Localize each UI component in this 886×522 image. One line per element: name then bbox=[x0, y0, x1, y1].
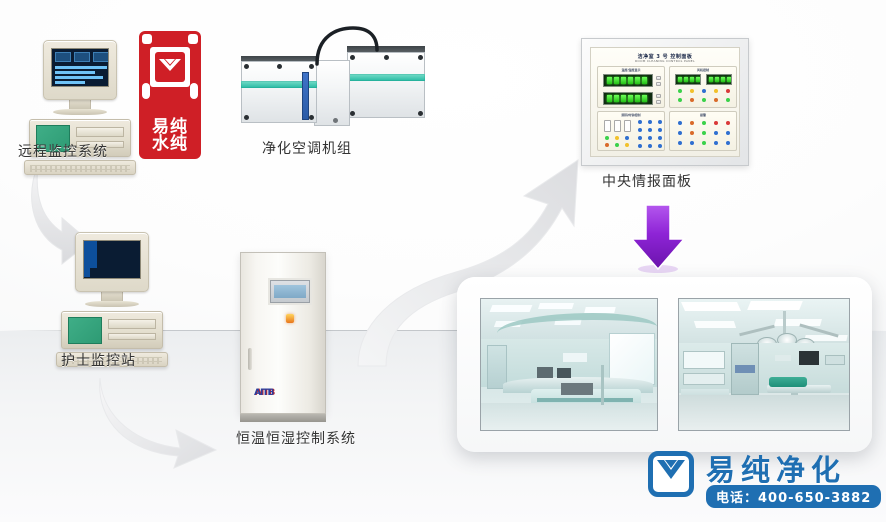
brand-name: 易纯净化 bbox=[706, 447, 846, 489]
photo-panel-container bbox=[457, 277, 872, 452]
panel-quadrant-fan-control[interactable]: 风机控制 bbox=[669, 66, 737, 108]
tower-drive-bay-nurse bbox=[108, 319, 156, 329]
ahu-blue-access-panel bbox=[302, 72, 309, 120]
quadrant-4-label: 报警 bbox=[670, 113, 736, 117]
panel-quadrant-temp-humidity[interactable]: 温度/湿度显示 bbox=[597, 66, 665, 108]
node-temperature-humidity-cabinet[interactable]: AITB bbox=[240, 252, 326, 414]
cabinet-indicator-lamp bbox=[286, 314, 294, 323]
cabinet-plinth bbox=[240, 414, 326, 422]
monitor-nurse bbox=[75, 232, 149, 292]
brand-chevron-icon bbox=[657, 460, 685, 482]
node-central-information-panel[interactable]: 洁净室 3 号 控制面板 ROOM CLEANING CONTROL PANEL… bbox=[581, 38, 749, 166]
quadrant-1-label: 温度/湿度显示 bbox=[598, 68, 664, 72]
photo-hospital-nurse-station[interactable] bbox=[480, 298, 658, 431]
lcd-humidity bbox=[603, 92, 653, 105]
diagram-canvas: 远程监控系统 易纯水纯 bbox=[0, 0, 886, 522]
tower-drive-bay-2-nurse bbox=[108, 333, 156, 340]
ahu-middle-section bbox=[314, 60, 350, 126]
label-remote-monitoring: 远程监控系统 bbox=[18, 141, 108, 161]
monitor-stand-neck bbox=[69, 100, 91, 109]
panel-subtitle: ROOM CLEANING CONTROL PANEL bbox=[591, 59, 739, 63]
cabinet-hmi-display[interactable] bbox=[268, 278, 312, 305]
monitor-stand-base bbox=[53, 109, 107, 115]
monitor-screen-nurse bbox=[83, 240, 141, 279]
company-seal-stamp: 易纯水纯 bbox=[139, 31, 201, 159]
monitor-stand-neck-nurse bbox=[101, 292, 123, 301]
computer-tower-nurse bbox=[61, 311, 163, 349]
quadrant-2-label: 风机控制 bbox=[670, 68, 736, 72]
panel-face: 洁净室 3 号 控制面板 ROOM CLEANING CONTROL PANEL… bbox=[590, 47, 740, 157]
panel-quadrant-alarm[interactable]: 报警 bbox=[669, 111, 737, 151]
seal-chevron-icon bbox=[159, 59, 181, 73]
monitor-screen-remote bbox=[51, 48, 109, 87]
cabinet-brand-mark: AITB bbox=[254, 388, 273, 398]
node-air-handling-unit[interactable] bbox=[237, 30, 427, 130]
cabinet-door-handle[interactable] bbox=[248, 348, 252, 370]
ahu-right-section bbox=[347, 52, 425, 118]
panel-quadrant-lighting-clock[interactable]: 照明/时钟控制 bbox=[597, 111, 665, 151]
quadrant-3-label: 照明/时钟控制 bbox=[598, 113, 664, 117]
lcd-temperature bbox=[603, 74, 653, 87]
arrow-central-panel-to-photos bbox=[626, 203, 690, 275]
lcd-fan-b bbox=[706, 74, 732, 85]
brand-phone: 电话：400-650-3882 bbox=[706, 485, 881, 508]
photo-hospital-operating-room[interactable] bbox=[678, 298, 850, 431]
brand-logo[interactable]: 易纯净化 电话：400-650-3882 bbox=[648, 447, 880, 509]
keyboard-remote bbox=[24, 160, 136, 175]
node-nurse-monitoring-station[interactable] bbox=[56, 232, 168, 367]
label-ahu: 净化空调机组 bbox=[262, 138, 352, 158]
lcd-fan-a bbox=[675, 74, 701, 85]
tower-drive-bay bbox=[76, 127, 124, 137]
seal-characters: 易纯水纯 bbox=[139, 119, 201, 153]
monitor-stand-base-nurse bbox=[85, 301, 139, 307]
label-nurse-station: 护士监控站 bbox=[61, 350, 136, 370]
tower-green-face-nurse bbox=[68, 317, 102, 344]
label-cabinet: 恒温恒湿控制系统 bbox=[236, 428, 356, 448]
monitor-remote bbox=[43, 40, 117, 100]
label-central-panel: 中央情报面板 bbox=[602, 171, 692, 191]
